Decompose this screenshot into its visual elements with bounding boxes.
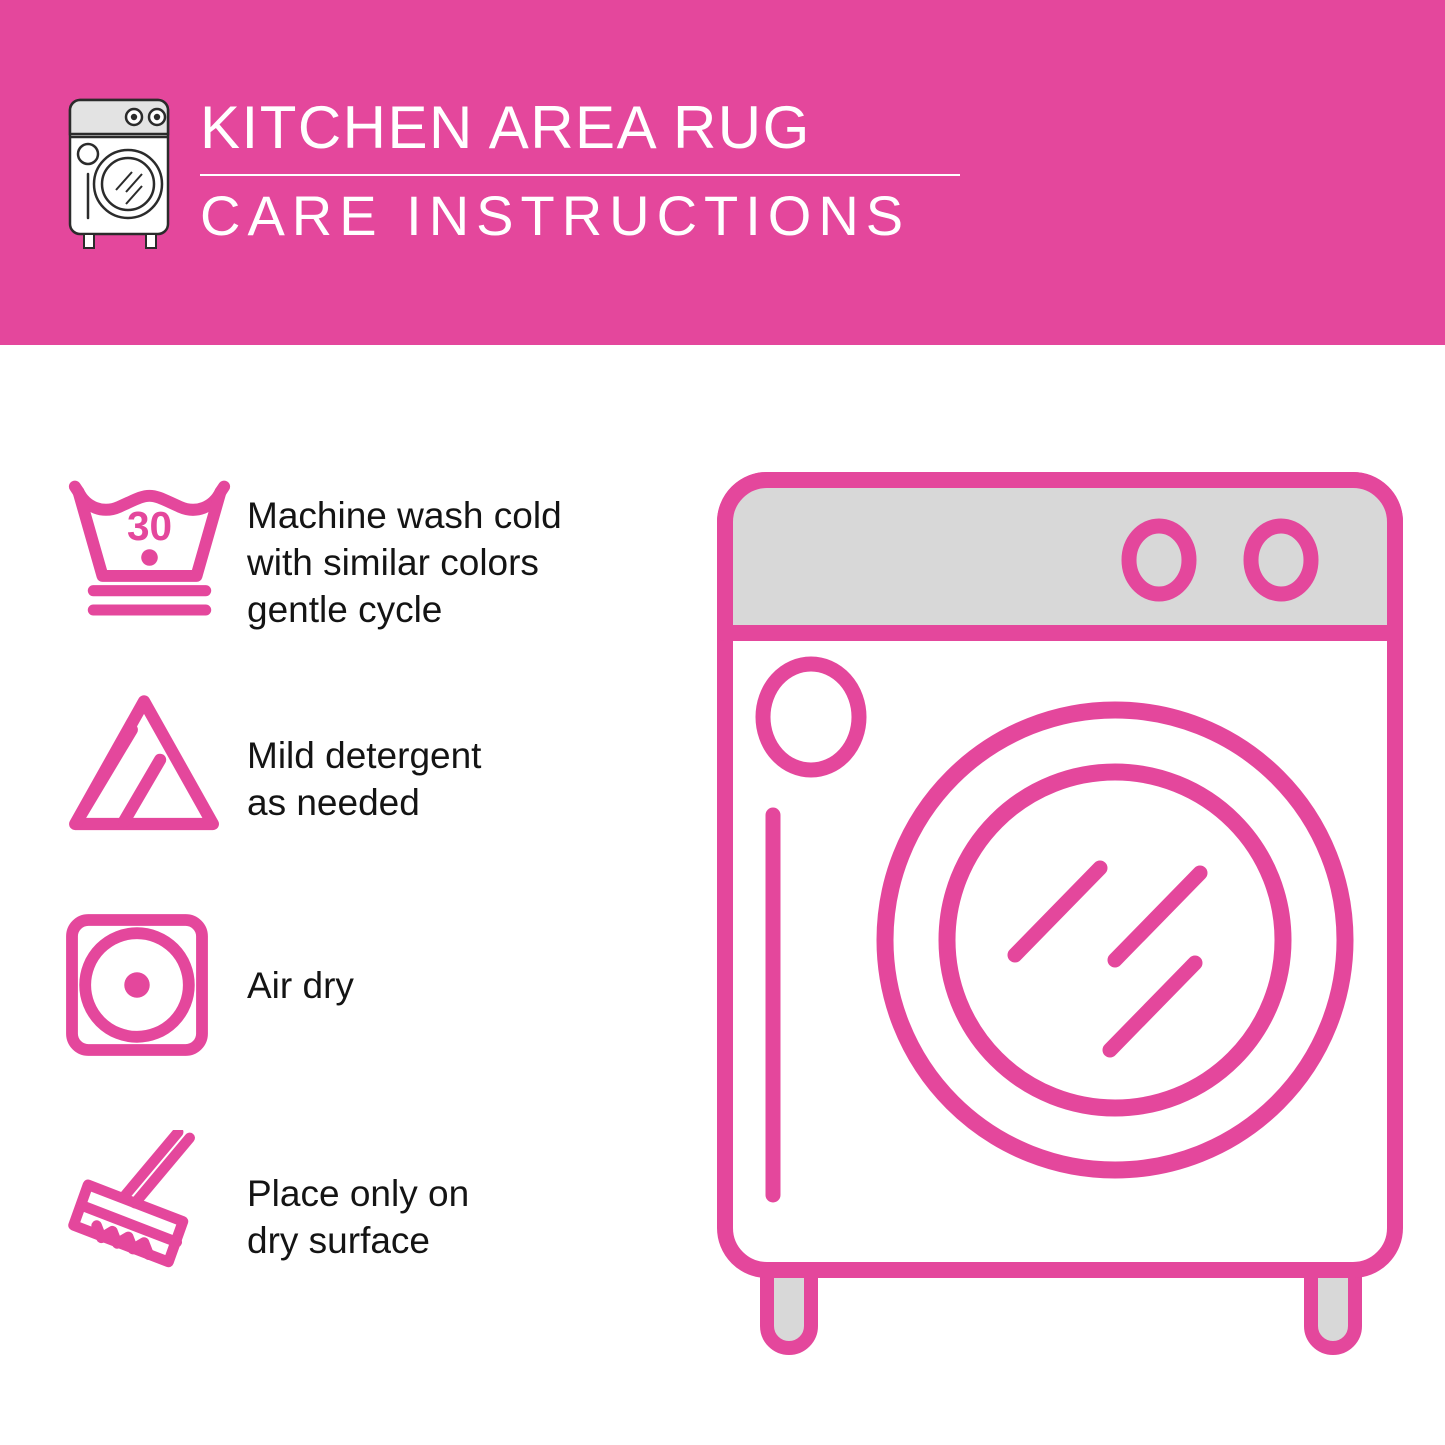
care-line: dry surface [247,1217,652,1264]
care-row-mild-detergent: Mild detergent as needed [62,690,652,910]
page-subtitle: CARE INSTRUCTIONS [200,186,960,246]
header-content: KITCHEN AREA RUG CARE INSTRUCTIONS [62,92,960,252]
knob-right [1251,526,1311,594]
care-line: Place only on [247,1170,652,1217]
care-row-dry-surface: Place only on dry surface [62,1130,652,1350]
broom-icon [62,1130,247,1284]
care-row-machine-wash: 30 Machine wash cold with similar colors… [62,470,652,690]
care-line: Mild detergent [247,732,652,779]
page-title: KITCHEN AREA RUG [200,96,960,160]
care-text-mild-detergent: Mild detergent as needed [247,690,652,826]
care-line: as needed [247,779,652,826]
tumble-dry-square-icon [62,910,247,1060]
washing-machine-icon [62,92,182,252]
care-line: Air dry [247,962,652,1009]
title-divider [200,174,960,176]
front-load-washing-machine-illustration [715,470,1405,1370]
care-line: gentle cycle [247,586,652,633]
wash-temperature-label: 30 [127,503,172,549]
wash-tub-30-gentle-icon: 30 [62,470,247,622]
knob-left [1129,526,1189,594]
non-chlorine-bleach-triangle-icon [62,690,247,841]
care-row-air-dry: Air dry [62,910,652,1130]
care-text-air-dry: Air dry [247,910,652,1009]
care-line: with similar colors [247,539,652,586]
care-text-dry-surface: Place only on dry surface [247,1130,652,1264]
care-line: Machine wash cold [247,492,652,539]
header-banner: KITCHEN AREA RUG CARE INSTRUCTIONS [0,0,1445,345]
care-text-machine-wash: Machine wash cold with similar colors ge… [247,470,652,633]
title-block: KITCHEN AREA RUG CARE INSTRUCTIONS [200,92,960,246]
care-instruction-list: 30 Machine wash cold with similar colors… [62,470,652,1350]
